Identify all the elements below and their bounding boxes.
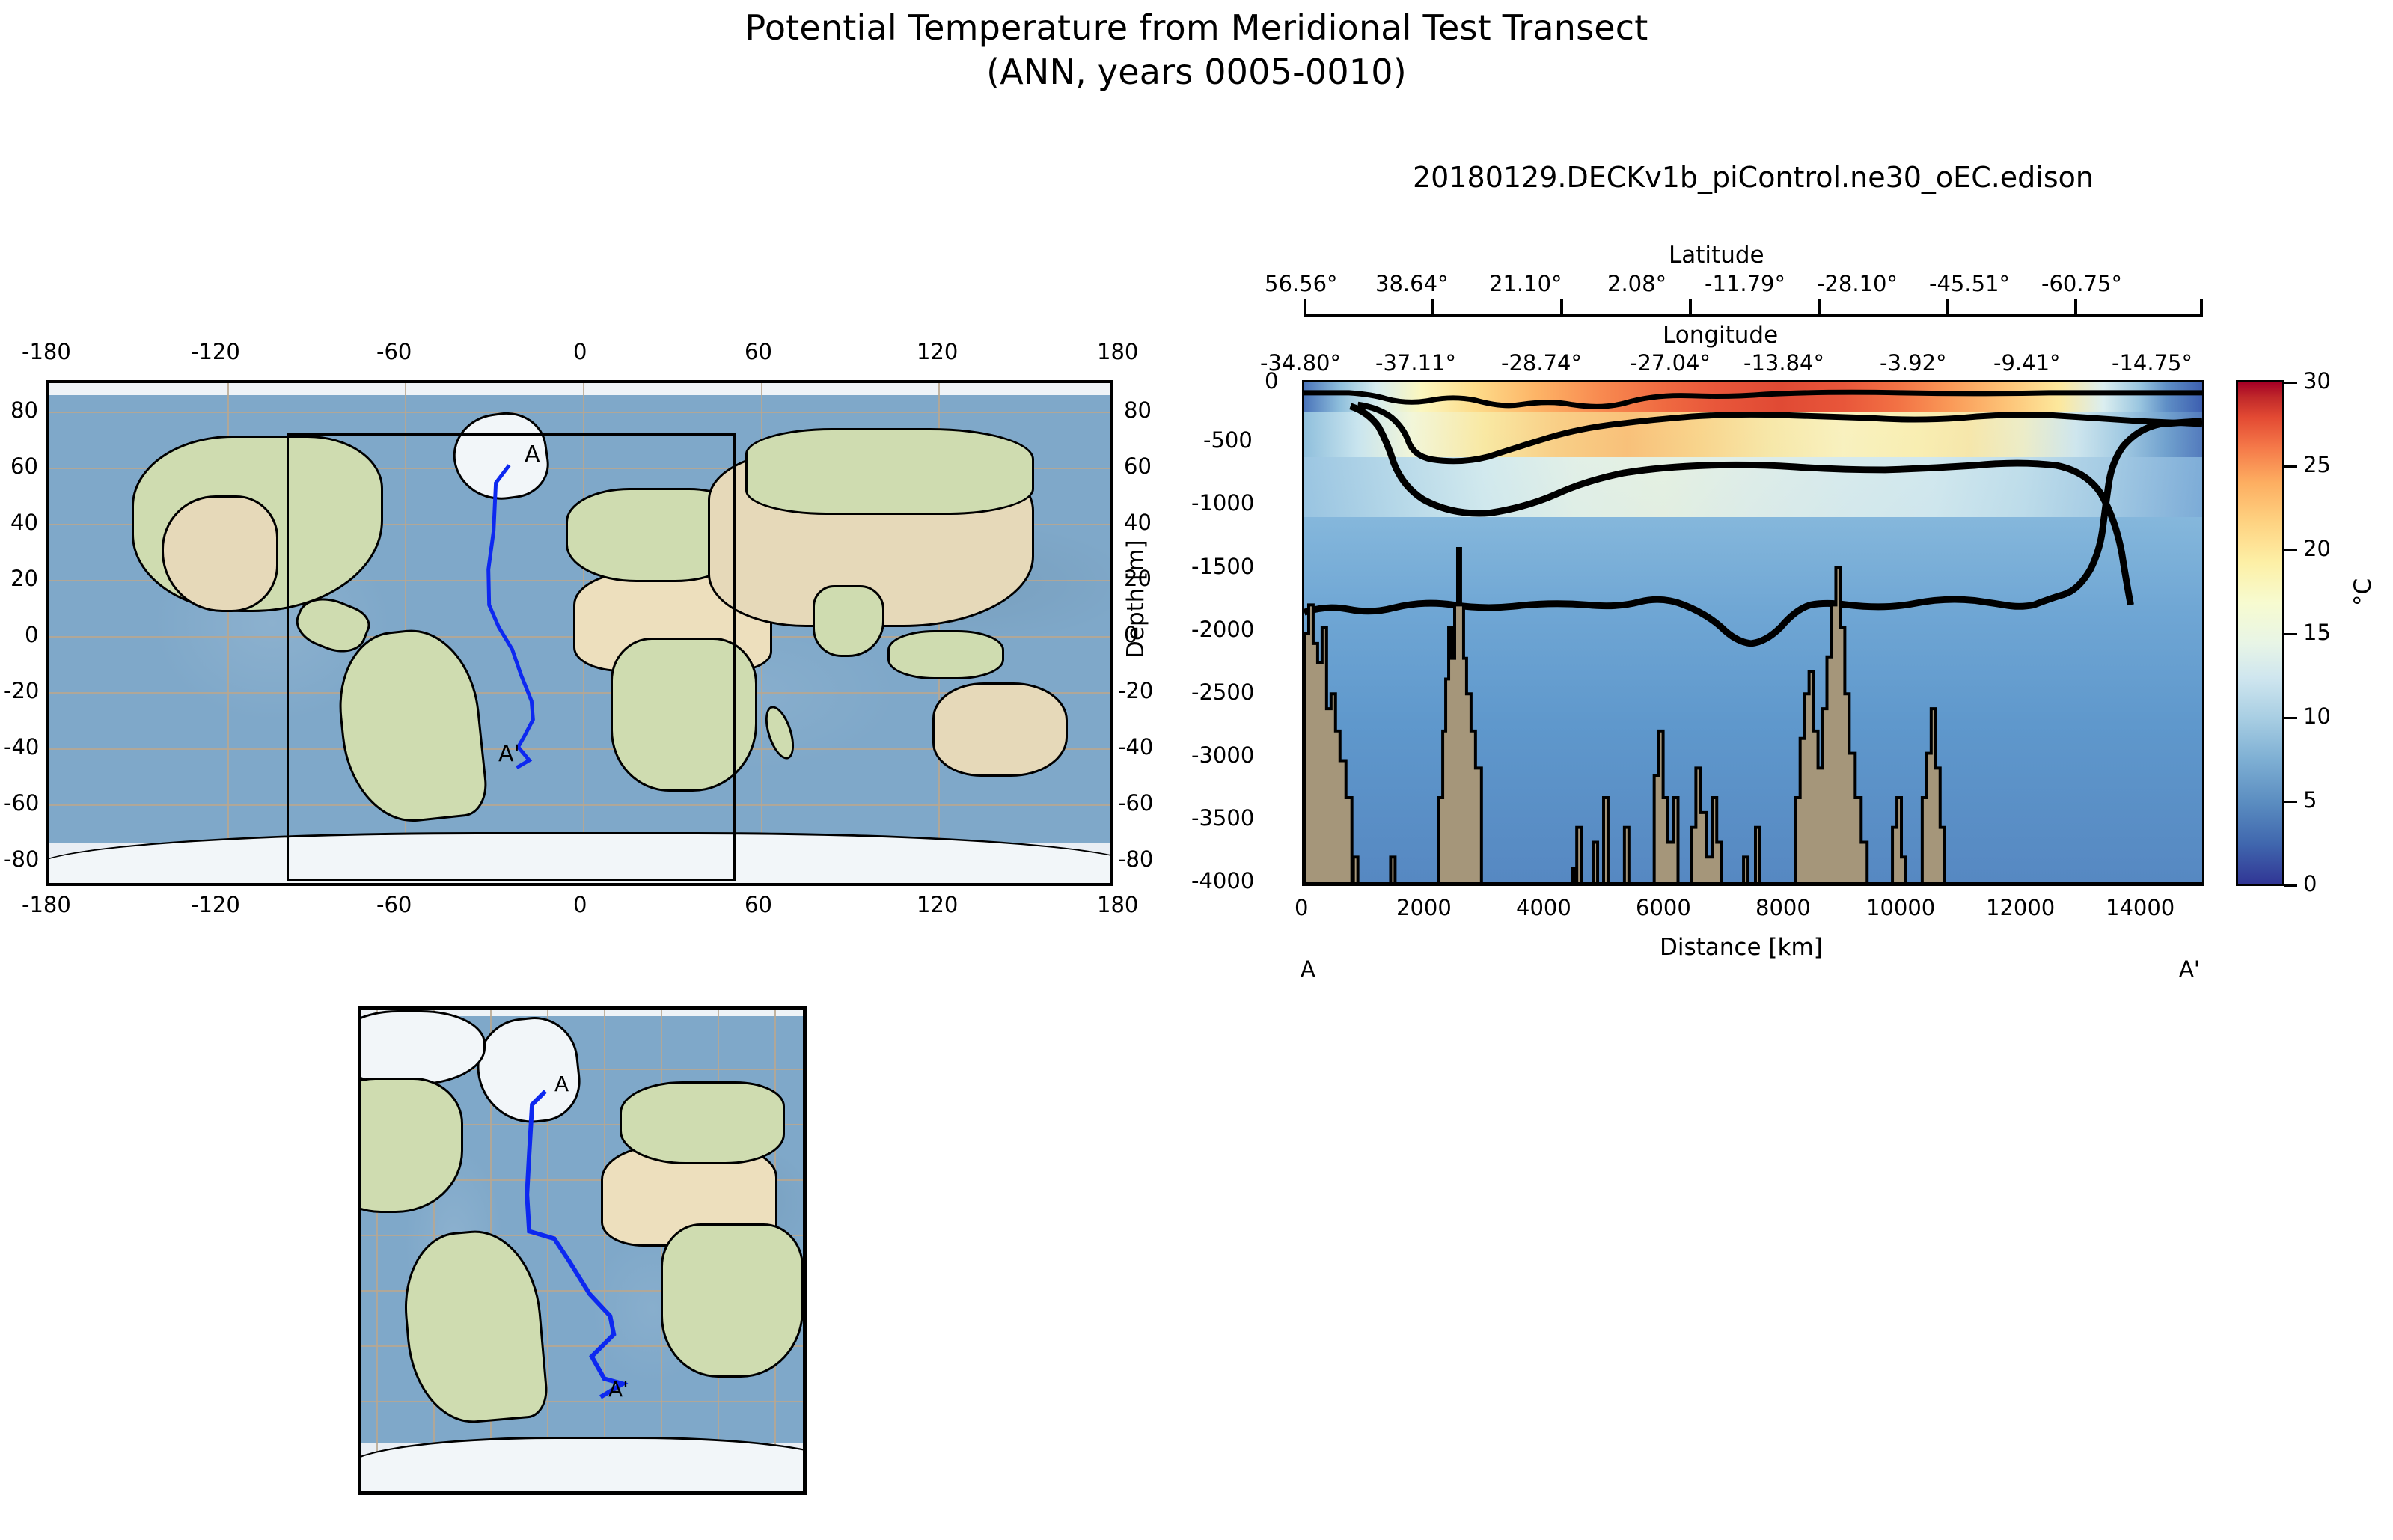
map-xtick-bot-180: 180	[1097, 892, 1138, 917]
map-ytick-left-80: 80	[10, 397, 38, 423]
map-xtick-top-60: 60	[745, 339, 772, 364]
dist-tick-4000: 4000	[1516, 895, 1571, 920]
map-basemap: A A'	[49, 383, 1110, 883]
map-xtick-bot-0: 0	[573, 892, 587, 917]
latitude-axis-ticks	[1302, 298, 2204, 317]
inset-basemap: A A'	[361, 1010, 803, 1491]
longitude-axis-title: Longitude	[1663, 322, 1778, 349]
map-ytick-left-0: 0	[25, 622, 38, 647]
cbar-label-0: 0	[2303, 871, 2317, 896]
inset-transect-overlay	[361, 1010, 803, 1491]
inset-atlantic-map[interactable]: A A'	[358, 1006, 807, 1495]
lon-tick-4: -13.84°	[1743, 350, 1824, 376]
map-ytick-left-m40: -40	[4, 734, 39, 760]
map-xtick-bot-60: 60	[745, 892, 772, 917]
map-xtick-bot-m180: -180	[22, 892, 71, 917]
cross-section-dataset-title: 20180129.DECKv1b_piControl.ne30_oEC.edis…	[1302, 161, 2204, 194]
depth-tick-m3500: -3500	[1191, 805, 1254, 831]
lat-tick-4: -11.79°	[1705, 271, 1785, 296]
dist-tick-6000: 6000	[1636, 895, 1691, 920]
map-xtick-top-0: 0	[573, 339, 587, 364]
latitude-axis-title: Latitude	[1669, 242, 1764, 269]
section-endpoint-a: A	[1301, 956, 1315, 982]
cross-section-plot[interactable]	[1302, 380, 2204, 886]
lon-tick-3: -27.04°	[1630, 350, 1711, 376]
cbar-tick-0	[2284, 884, 2297, 887]
map-ytick-right-m40: -40	[1118, 734, 1153, 760]
colorbar-unit-label: °C	[2350, 578, 2377, 606]
lon-tick-7: -14.75°	[2112, 350, 2192, 376]
depth-tick-0: 0	[1265, 368, 1278, 394]
map-ytick-left-m80: -80	[4, 846, 39, 872]
cbar-tick-15	[2284, 633, 2297, 635]
dist-tick-10000: 10000	[1866, 895, 1935, 920]
lat-tick-5: -28.10°	[1817, 271, 1898, 296]
cbar-label-5: 5	[2303, 787, 2317, 813]
map-xtick-top-180: 180	[1097, 339, 1138, 364]
depth-tick-m1500: -1500	[1191, 554, 1254, 579]
depth-axis-title: Depth [m]	[1122, 540, 1149, 659]
depth-tick-m4000: -4000	[1191, 868, 1254, 893]
dist-tick-2000: 2000	[1396, 895, 1452, 920]
map-ytick-left-60: 60	[10, 453, 38, 479]
lat-tick-2: 21.10°	[1489, 271, 1562, 296]
depth-tick-m500: -500	[1203, 427, 1253, 453]
dist-tick-0: 0	[1295, 895, 1308, 920]
cbar-label-20: 20	[2303, 536, 2331, 561]
depth-tick-m2000: -2000	[1191, 617, 1254, 642]
map-xtick-top-m60: -60	[376, 339, 412, 364]
map-xtick-top-m180: -180	[22, 339, 71, 364]
cbar-tick-30	[2284, 382, 2297, 384]
cbar-tick-5	[2284, 801, 2297, 803]
map-xtick-bot-m120: -120	[191, 892, 240, 917]
map-xtick-top-120: 120	[917, 339, 958, 364]
distance-axis-title: Distance [km]	[1660, 934, 1823, 961]
inset-transect-end-label: A'	[608, 1377, 629, 1402]
lat-tick-0: 56.56°	[1265, 271, 1338, 296]
cbar-tick-25	[2284, 465, 2297, 468]
figure-title: Potential Temperature from Meridional Te…	[0, 6, 2393, 94]
depth-tick-m3000: -3000	[1191, 742, 1254, 768]
figure-title-line2: (ANN, years 0005-0010)	[0, 50, 2393, 94]
temperature-colorbar[interactable]	[2236, 380, 2284, 886]
cbar-label-10: 10	[2303, 703, 2331, 729]
lon-tick-2: -28.74°	[1501, 350, 1582, 376]
inset-transect-start-label: A	[554, 1072, 569, 1096]
dist-tick-12000: 12000	[1986, 895, 2055, 920]
map-xtick-top-m120: -120	[191, 339, 240, 364]
map-ytick-right-60: 60	[1124, 453, 1152, 479]
inset-region-rectangle	[287, 433, 736, 881]
map-ytick-left-m60: -60	[4, 790, 39, 816]
lat-tick-1: 38.64°	[1375, 271, 1449, 296]
main-world-map[interactable]: A A'	[46, 380, 1113, 886]
cbar-label-15: 15	[2303, 620, 2331, 645]
cbar-label-30: 30	[2303, 368, 2331, 394]
lat-tick-7: -60.75°	[2041, 271, 2122, 296]
lat-tick-6: -45.51°	[1929, 271, 2010, 296]
map-ytick-left-m20: -20	[4, 678, 39, 703]
map-ytick-right-40: 40	[1124, 510, 1152, 535]
depth-tick-m1000: -1000	[1191, 490, 1254, 516]
map-ytick-right-m60: -60	[1118, 790, 1153, 816]
map-ytick-right-80: 80	[1124, 397, 1152, 423]
cbar-tick-20	[2284, 549, 2297, 551]
map-xtick-bot-120: 120	[917, 892, 958, 917]
lon-tick-5: -3.92°	[1880, 350, 1947, 376]
bathymetry-seafloor	[1304, 382, 2202, 884]
cbar-label-25: 25	[2303, 452, 2331, 477]
map-ytick-right-m20: -20	[1118, 678, 1153, 703]
figure-title-line1: Potential Temperature from Meridional Te…	[745, 7, 1648, 48]
inset-transect-line	[527, 1091, 623, 1397]
dist-tick-8000: 8000	[1755, 895, 1811, 920]
map-ytick-left-20: 20	[10, 566, 38, 591]
lon-tick-1: -37.11°	[1375, 350, 1456, 376]
seafloor-polygon	[1304, 549, 2202, 884]
map-ytick-left-40: 40	[10, 510, 38, 535]
dist-tick-14000: 14000	[2106, 895, 2175, 920]
lon-tick-6: -9.41°	[1993, 350, 2061, 376]
section-endpoint-aprime: A'	[2179, 956, 2200, 982]
lat-tick-3: 2.08°	[1607, 271, 1666, 296]
depth-tick-m2500: -2500	[1191, 679, 1254, 705]
cbar-tick-10	[2284, 717, 2297, 719]
map-xtick-bot-m60: -60	[376, 892, 412, 917]
map-ytick-right-m80: -80	[1118, 846, 1153, 872]
